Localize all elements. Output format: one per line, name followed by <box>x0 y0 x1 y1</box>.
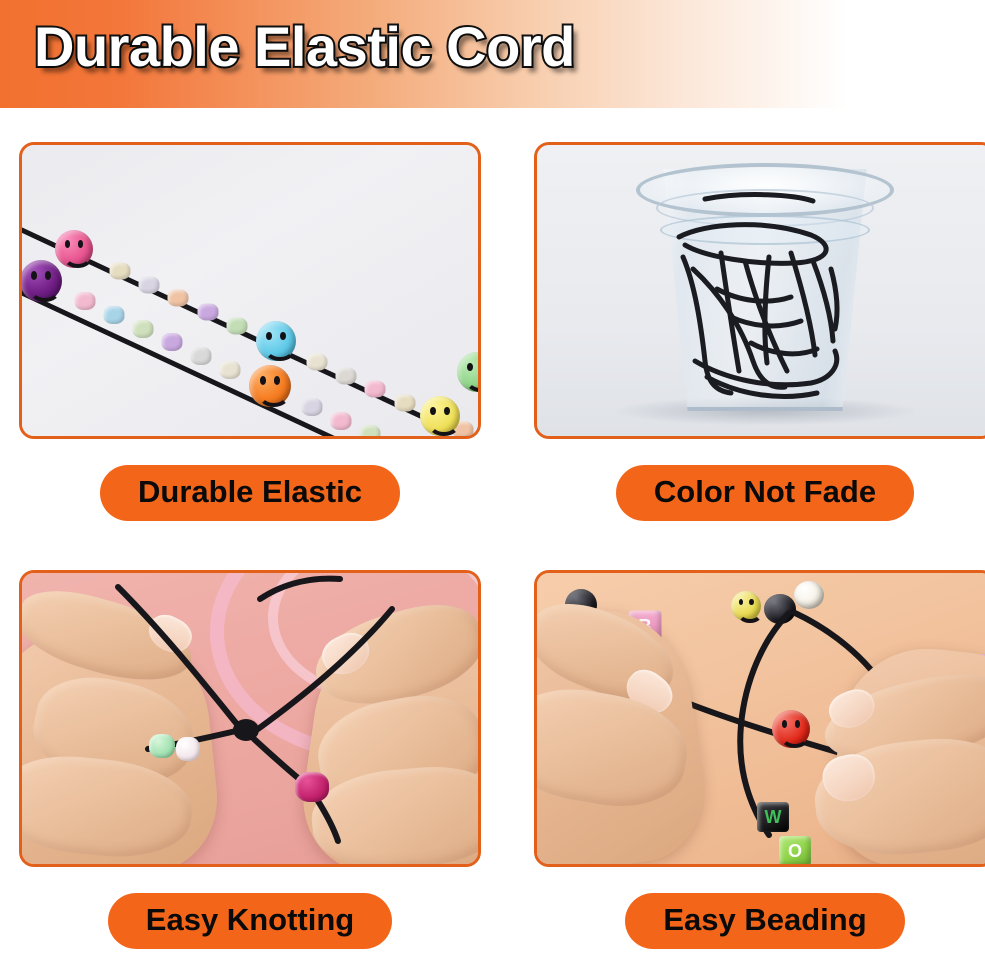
smiley-bead-orange <box>249 365 291 407</box>
page-title: Durable Elastic Cord <box>34 16 575 78</box>
smiley-bead-purple <box>20 260 62 302</box>
caption-row-durable-elastic: Durable Elastic <box>19 465 481 521</box>
spacer-bead <box>307 354 328 371</box>
elastic-cord-knot <box>22 573 478 864</box>
bead-white-on-cord <box>176 737 200 761</box>
spacer-bead <box>302 398 323 416</box>
caption-durable-elastic: Durable Elastic <box>100 465 400 521</box>
knotting-hands-illustration <box>22 573 478 864</box>
spacer-bead <box>139 277 160 294</box>
spacer-bead <box>360 425 381 439</box>
feature-card-easy-beading: B <box>534 570 985 949</box>
photo-color-not-fade <box>534 142 985 439</box>
spacer-bead <box>168 290 189 307</box>
spacer-bead <box>162 333 183 351</box>
photo-durable-elastic <box>19 142 481 439</box>
smiley-bead-pink <box>55 230 93 268</box>
beading-hands-illustration: B <box>537 573 985 864</box>
beaded-strands-illustration <box>22 145 478 436</box>
cup-of-water-illustration <box>537 145 985 436</box>
spacer-bead <box>220 361 241 379</box>
smiley-bead-cyan <box>256 321 296 361</box>
spacer-bead <box>104 306 125 324</box>
smiley-bead-red-on-cord <box>772 710 810 748</box>
spacer-bead <box>198 304 219 321</box>
caption-easy-knotting: Easy Knotting <box>108 893 392 949</box>
spacer-bead <box>133 320 154 338</box>
letter-bead-o: O <box>779 836 811 864</box>
spacer-bead <box>75 292 96 310</box>
caption-row-easy-knotting: Easy Knotting <box>19 893 481 949</box>
spacer-bead <box>331 412 352 430</box>
spacer-bead <box>191 347 212 365</box>
spacer-bead <box>227 318 248 335</box>
spacer-bead <box>336 368 357 385</box>
bead-green-on-cord <box>149 734 175 758</box>
smiley-bead-green <box>457 352 481 392</box>
smiley-bead-yellow <box>420 396 460 436</box>
caption-row-easy-beading: Easy Beading <box>534 893 985 949</box>
feature-card-easy-knotting: Easy Knotting <box>19 570 481 949</box>
photo-easy-knotting <box>19 570 481 867</box>
tangled-cord-in-water <box>635 165 895 435</box>
spacer-bead <box>365 381 386 398</box>
feature-card-durable-elastic: Durable Elastic <box>19 142 481 521</box>
caption-row-color-not-fade: Color Not Fade <box>534 465 985 521</box>
spacer-bead <box>395 395 416 412</box>
feature-card-color-not-fade: Color Not Fade <box>534 142 985 521</box>
spacer-bead <box>110 263 131 280</box>
feature-grid: Durable Elastic <box>0 108 985 957</box>
caption-easy-beading: Easy Beading <box>625 893 904 949</box>
page-header: Durable Elastic Cord <box>0 0 985 108</box>
letter-bead-w: W <box>757 802 789 832</box>
caption-color-not-fade: Color Not Fade <box>616 465 914 521</box>
bead-magenta-on-cord <box>295 772 329 802</box>
photo-easy-beading: B <box>534 570 985 867</box>
